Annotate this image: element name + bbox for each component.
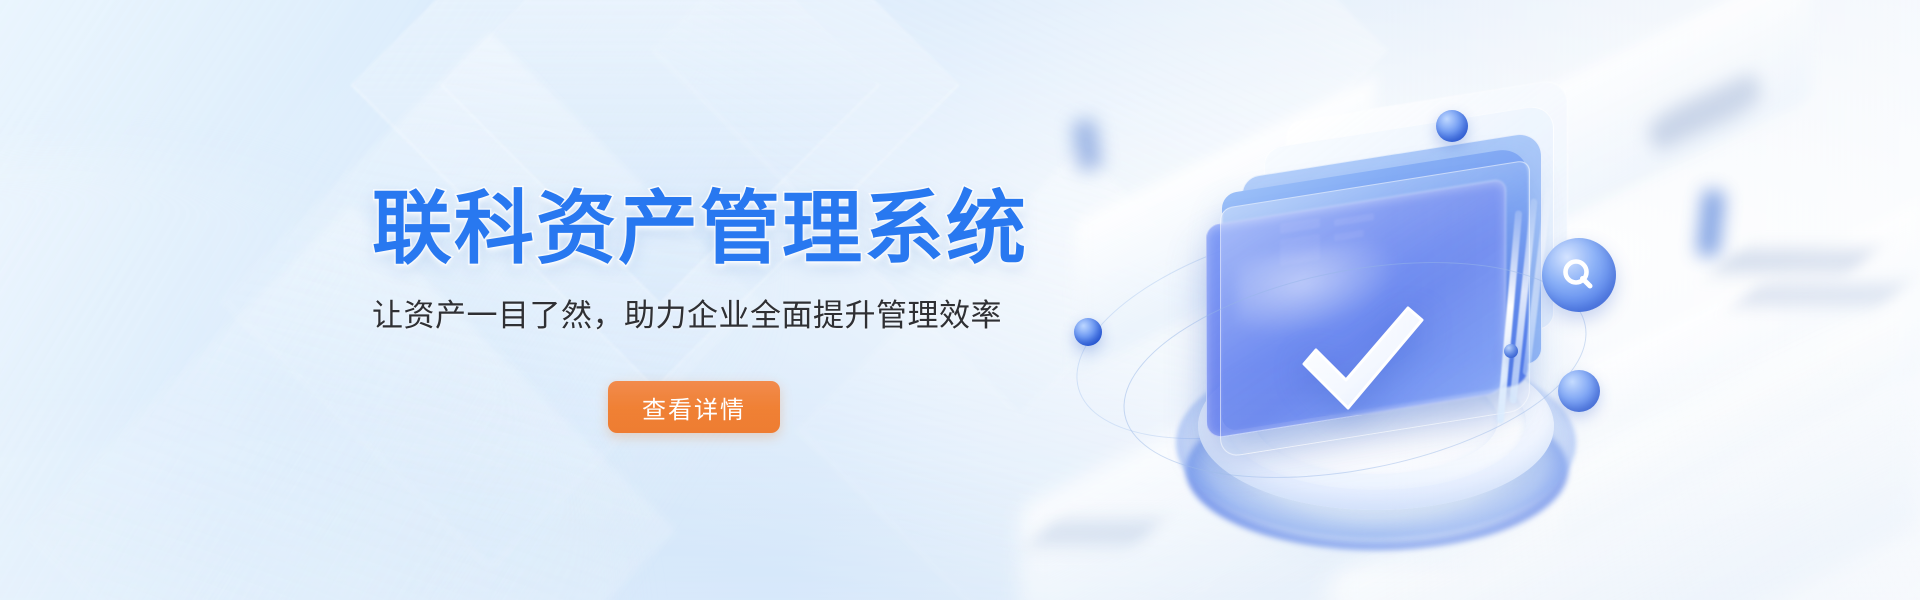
background-deco-4 <box>1736 285 1904 305</box>
search-badge-icon <box>1542 238 1616 312</box>
page-subtitle: 让资产一目了然，助力企业全面提升管理效率 <box>372 290 1072 335</box>
sphere-top <box>1436 110 1468 142</box>
sphere-bottom-right <box>1558 370 1600 412</box>
sphere-left <box>1074 318 1102 346</box>
view-details-button[interactable]: 查看详情 <box>608 381 780 433</box>
background-deco-3 <box>1715 250 1875 272</box>
hero-banner: 联科资产管理系统 让资产一目了然，助力企业全面提升管理效率 查看详情 <box>0 0 1920 600</box>
hero-illustration <box>1080 60 1680 580</box>
sphere-small-right <box>1504 344 1518 358</box>
hero-copy: 联科资产管理系统 让资产一目了然，助力企业全面提升管理效率 查看详情 <box>372 186 1072 433</box>
page-title: 联科资产管理系统 <box>372 186 1072 272</box>
background-deco-2 <box>1697 189 1726 257</box>
